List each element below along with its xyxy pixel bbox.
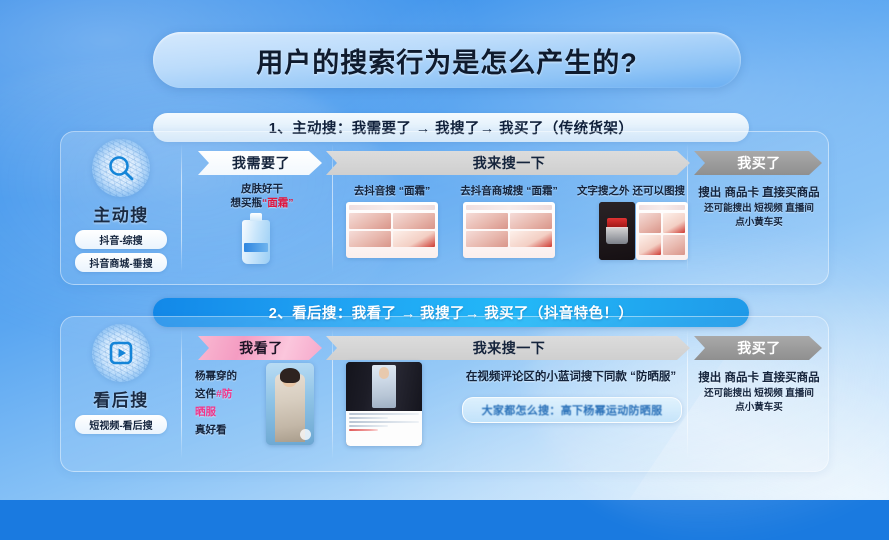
- need-caption-line1: 皮肤好干: [201, 182, 323, 197]
- page-title-text: 用户的搜索行为是怎么产生的?: [256, 41, 638, 80]
- buy-2-line-2: 点小黄车买: [694, 401, 824, 415]
- short-video-phone-thumbnail: [266, 363, 314, 445]
- stage-chevron-search-label: 我来搜一下: [326, 153, 690, 173]
- saw-caption-line2: 这件#防: [195, 387, 265, 402]
- video-comment-thumbnail: [346, 362, 422, 446]
- comment-line: [349, 421, 419, 423]
- section-2-icon-label: 看后搜: [93, 386, 149, 411]
- search-result-thumbnail-1: [463, 202, 555, 258]
- thumb-cell: [466, 231, 508, 247]
- thumb-cell: [639, 235, 661, 255]
- thumb-cell: [393, 213, 435, 229]
- search-suggestion-box[interactable]: 大家都怎么搜：高下杨幂运动防晒服: [462, 397, 682, 423]
- thumb-cell: [466, 213, 508, 229]
- thumb-grid: [639, 213, 685, 255]
- thumb-cell: [510, 213, 552, 229]
- comment-line: [349, 425, 388, 427]
- section-1-left-column: 主动搜 抖音-综搜 抖音商城-垂搜: [61, 132, 181, 284]
- search-caption-2: 文字搜之外 还可以图搜: [566, 184, 696, 199]
- search-caption-2-text: 在视频评论区的小蓝词搜下同款 “防晒服”: [454, 369, 688, 386]
- stage-chevron-search: 我来搜一下: [326, 151, 690, 175]
- column-divider: [332, 144, 333, 272]
- cream-jar-icon: [599, 202, 635, 260]
- need-caption-prefix: 想买瓶: [231, 197, 263, 209]
- saw-caption-line1: 杨幂穿的: [195, 369, 261, 384]
- video-person: [372, 365, 396, 408]
- stage-chevron-search-2: 我来搜一下: [326, 336, 690, 360]
- thumb-cell: [639, 213, 661, 233]
- image-search-product-thumbnail: [599, 202, 635, 260]
- stage-chevron-buy: 我买了: [694, 151, 822, 175]
- page-title: 用户的搜索行为是怎么产生的?: [153, 32, 741, 88]
- section-1-tag-0: 抖音-综搜: [75, 230, 167, 249]
- video-frame: [346, 362, 422, 411]
- column-divider: [332, 329, 333, 459]
- thumb-cell: [510, 231, 552, 247]
- section-2-left-column: 看后搜 短视频-看后搜: [61, 317, 181, 471]
- comment-line-highlighted: [349, 429, 378, 431]
- saw-caption-prefix: 这件: [195, 388, 216, 400]
- thumb-cell: [349, 213, 391, 229]
- image-search-result-thumbnail: [636, 202, 688, 260]
- thumb-cell: [393, 231, 435, 247]
- thumb-bar: [639, 205, 685, 210]
- search-circle-icon: [92, 139, 150, 197]
- section-1-tag-1: 抖音商城-垂搜: [75, 253, 167, 272]
- need-caption-highlight: “面霜”: [262, 197, 294, 209]
- saw-caption-highlight-1: #防: [216, 388, 232, 400]
- comment-list: [346, 411, 422, 446]
- section-card-2: 看后搜 短视频-看后搜 我看了 我来搜一下 我买了 杨幂穿的 这件#防 晒服 真…: [60, 316, 829, 472]
- stage-chevron-saw: 我看了: [198, 336, 322, 360]
- thumb-cell: [663, 235, 685, 255]
- section-1-icon-label: 主动搜: [93, 201, 149, 226]
- saw-caption-line4: 真好看: [195, 423, 265, 438]
- buy-line-0: 搜出 商品卡 直接买商品: [694, 185, 824, 202]
- stage-chevron-need: 我需要了: [198, 151, 322, 175]
- stage-chevron-buy-label: 我买了: [694, 153, 822, 173]
- buy-2-line-1: 还可能搜出 短视频 直播间: [694, 387, 824, 401]
- thumb-cell: [349, 231, 391, 247]
- comment-line: [349, 417, 388, 419]
- section-card-1: 主动搜 抖音-综搜 抖音商城-垂搜 我需要了 我来搜一下 我买了 皮肤好干 想买…: [60, 131, 829, 285]
- search-result-thumbnail-0: [346, 202, 438, 258]
- thumb-bar: [466, 205, 552, 210]
- stage-chevron-saw-label: 我看了: [198, 338, 322, 358]
- comment-line: [349, 413, 419, 415]
- stage-chevron-need-label: 我需要了: [198, 153, 322, 173]
- jar-body: [606, 227, 628, 244]
- saw-caption-highlight-2: 晒服: [195, 405, 265, 420]
- buy-line-2: 点小黄车买: [694, 216, 824, 230]
- section-2-tag-0: 短视频-看后搜: [75, 415, 167, 434]
- cream-bottle-thumbnail: [242, 220, 270, 264]
- buy-line-1: 还可能搜出 短视频 直播间: [694, 202, 824, 216]
- stage-chevron-buy-2: 我买了: [694, 336, 822, 360]
- video-circle-icon: [92, 324, 150, 382]
- need-caption-line2: 想买瓶“面霜”: [201, 196, 323, 211]
- thumb-bar: [349, 205, 435, 210]
- search-caption-1: 去抖音商城搜 “面霜”: [448, 184, 570, 199]
- search-suggestion-text: 大家都怎么搜：高下杨幂运动防晒服: [482, 402, 663, 418]
- buy-2-line-0: 搜出 商品卡 直接买商品: [694, 370, 824, 387]
- thumb-grid: [349, 213, 435, 247]
- column-divider: [181, 144, 182, 272]
- column-divider: [181, 329, 182, 459]
- search-caption-0: 去抖音搜 “面霜”: [337, 184, 447, 199]
- stage-chevron-buy-2-label: 我买了: [694, 338, 822, 358]
- thumb-grid: [466, 213, 552, 247]
- stage-chevron-search-2-label: 我来搜一下: [326, 338, 690, 358]
- thumb-cell: [663, 213, 685, 233]
